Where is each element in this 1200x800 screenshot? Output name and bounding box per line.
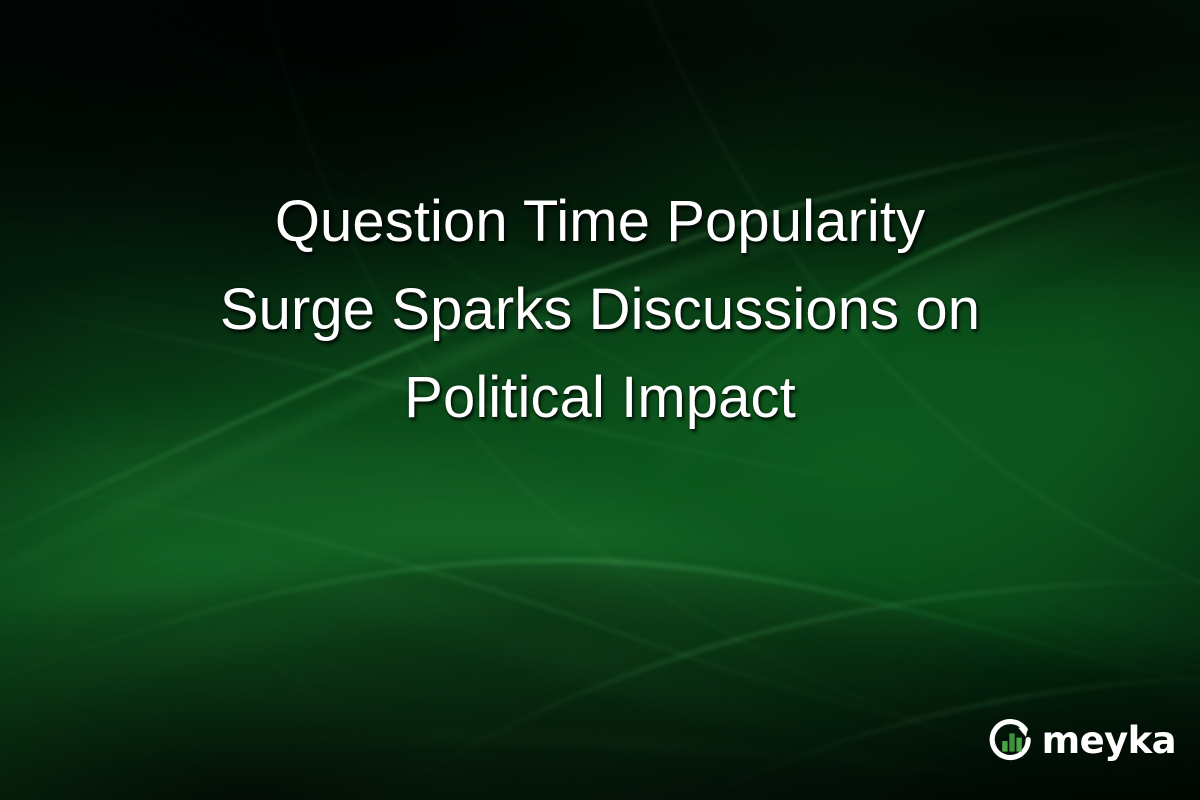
headline-line-1: Question Time Popularity [0,178,1200,266]
meyka-wordmark: meyka [1042,722,1176,759]
headline-line-3: Political Impact [0,354,1200,442]
headline-line-2: Surge Sparks Discussions on [0,266,1200,354]
headline: Question Time Popularity Surge Sparks Di… [0,178,1200,442]
meyka-logo[interactable]: meyka [987,716,1176,764]
share-card-canvas: Question Time Popularity Surge Sparks Di… [0,0,1200,800]
meyka-circle-bar-chart-icon [987,716,1035,764]
